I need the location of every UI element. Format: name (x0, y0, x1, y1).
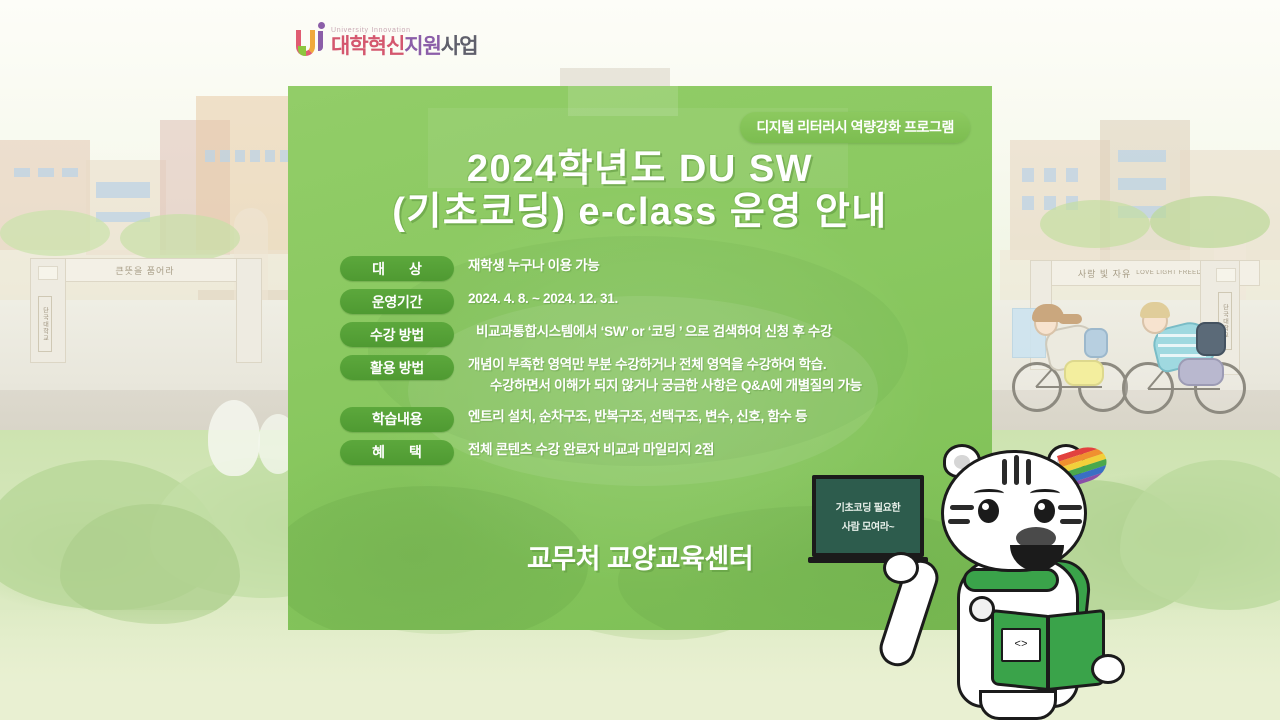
window (14, 168, 30, 177)
info-value-how-to-enroll: 비교과통합시스템에서 ‘SW’ or ‘코딩 ’ 으로 검색하여 신청 후 수강 (454, 322, 960, 343)
title-line-1: 2024학년도 DU SW (288, 148, 992, 191)
logo-ko-part2: 지원 (404, 35, 441, 58)
mascot-forehead-stripe (1026, 459, 1031, 485)
mascot-forehead-stripe (1002, 459, 1007, 485)
logo-ko-part3: 사업 (441, 35, 478, 58)
info-row: 혜택 전체 콘텐츠 수강 완료자 비교과 마일리지 2점 (340, 440, 960, 465)
tree (1040, 200, 1150, 248)
window (205, 150, 215, 162)
left-gate-pillar (236, 258, 262, 363)
cyclist-back (1120, 300, 1260, 420)
info-table: 대상 재학생 누구나 이용 가능 운영기간 2024. 4. 8. ~ 2024… (340, 256, 960, 473)
cyclist-legs (1178, 358, 1224, 386)
window (1022, 196, 1034, 210)
bicycle-frame (1148, 388, 1220, 390)
info-value-line-2: 수강하면서 이해가 되지 않거나 궁금한 사항은 Q&A에 개별질의 가능 (468, 376, 960, 397)
logo-korean-name: 대학혁신지원사업 (331, 36, 478, 57)
flowering-tree (208, 400, 260, 476)
cyclist-backpack (1196, 322, 1226, 356)
blackboard-line-2: 사람 모여라~ (842, 518, 895, 533)
label-char-2: 택 (409, 442, 422, 462)
mascot-forehead-stripe (1014, 455, 1019, 485)
window (62, 168, 78, 177)
label-char-1: 혜 (372, 442, 385, 462)
window (265, 150, 275, 162)
info-row: 활용 방법 개념이 부족한 영역만 부분 수강하거나 전체 영역을 수강하여 학… (340, 355, 960, 397)
white-tiger-mascot: <> (905, 440, 1135, 720)
right-gate-text-ko: 사랑 빛 자유 (1078, 267, 1131, 280)
tree (0, 210, 110, 256)
window (1044, 168, 1056, 182)
window (1022, 168, 1034, 182)
logo-text-block: University Innovation 대학혁신지원사업 (331, 27, 478, 58)
window (1118, 150, 1166, 162)
title-line-2: (기초코딩) e-class 운영 안내 (288, 191, 992, 234)
info-value-line-1: 개념이 부족한 영역만 부분 수강하거나 전체 영역을 수강하여 학습. (468, 355, 960, 376)
bicycle-frame (1036, 386, 1102, 388)
info-row: 학습내용 엔트리 설치, 순차구조, 반복구조, 선택구조, 변수, 신호, 함… (340, 407, 960, 432)
window (1066, 168, 1078, 182)
window (235, 150, 245, 162)
mascot-paw-holding-book (1091, 654, 1125, 684)
poster-title: 2024학년도 DU SW (기초코딩) e-class 운영 안내 (288, 148, 992, 233)
mascot-brow-right (1030, 489, 1060, 498)
logo-mark-icon (296, 22, 326, 58)
right-gate-emblem (1216, 268, 1236, 282)
logo-english-tagline: University Innovation (331, 27, 478, 34)
info-label-how-to-enroll: 수강 방법 (340, 322, 454, 347)
info-value-benefit: 전체 콘텐츠 수강 완료자 비교과 마일리지 2점 (454, 440, 960, 461)
mascot-eye-left (978, 499, 999, 523)
info-value-how-to-use: 개념이 부족한 영역만 부분 수강하거나 전체 영역을 수강하여 학습. 수강하… (454, 355, 960, 397)
mascot-eye-right (1034, 499, 1055, 523)
info-value-curriculum: 엔트리 설치, 순차구조, 반복구조, 선택구조, 변수, 신호, 함수 등 (454, 407, 960, 428)
logo-j-stroke (318, 31, 323, 51)
window (220, 150, 230, 162)
mascot-cheek-stripe (1060, 519, 1082, 524)
info-value-daesang: 재학생 누구나 이용 가능 (454, 256, 960, 277)
program-badge: 디지털 리터러시 역량강화 프로그램 (740, 112, 970, 143)
mascot-cheek-stripe (1058, 505, 1082, 510)
info-label-daesang: 대상 (340, 256, 454, 281)
cyclist-backpack (1084, 328, 1108, 358)
mascot-cheek-stripe (950, 505, 974, 510)
cyclist-hair (1140, 302, 1170, 318)
tree (120, 214, 240, 262)
ghost-building (568, 86, 678, 116)
mascot-brow-left (974, 489, 1004, 498)
info-label-period: 운영기간 (340, 289, 454, 314)
window (96, 182, 150, 198)
blackboard-line-1: 기초코딩 필요한 (836, 499, 901, 514)
info-label-benefit: 혜택 (340, 440, 454, 465)
mascot-legs (979, 690, 1057, 720)
cyclist-legs (1064, 360, 1104, 386)
info-label-curriculum: 학습내용 (340, 407, 454, 432)
info-row: 대상 재학생 누구나 이용 가능 (340, 256, 960, 281)
logo-ko-part1: 대학혁신 (331, 35, 404, 58)
tree (1150, 196, 1270, 248)
info-row: 수강 방법 비교과통합시스템에서 ‘SW’ or ‘코딩 ’ 으로 검색하여 신… (340, 322, 960, 347)
label-char-2: 상 (409, 259, 422, 279)
window (38, 168, 54, 177)
window (250, 150, 260, 162)
info-label-how-to-use: 활용 방법 (340, 355, 454, 380)
window (1118, 178, 1166, 190)
left-gate-emblem (38, 266, 58, 280)
university-innovation-logo: University Innovation 대학혁신지원사업 (296, 14, 456, 58)
left-gate-text: 큰뜻을 품어라 (115, 264, 174, 277)
info-row: 운영기간 2024. 4. 8. ~ 2024. 12. 31. (340, 289, 960, 314)
logo-dot (318, 22, 325, 29)
label-char-1: 대 (372, 259, 385, 279)
mascot-paw (883, 552, 919, 584)
mascot-book: <> (991, 612, 1111, 694)
computer-code-icon: <> (1001, 628, 1041, 662)
cyclist-ponytail (1058, 314, 1082, 324)
left-gate-pillar-sign: 단국대학교 (38, 296, 52, 352)
mascot-head (941, 450, 1087, 572)
info-value-period: 2024. 4. 8. ~ 2024. 12. 31. (454, 289, 960, 310)
mascot-cheek-stripe (948, 519, 970, 524)
logo-green-accent (298, 46, 306, 56)
